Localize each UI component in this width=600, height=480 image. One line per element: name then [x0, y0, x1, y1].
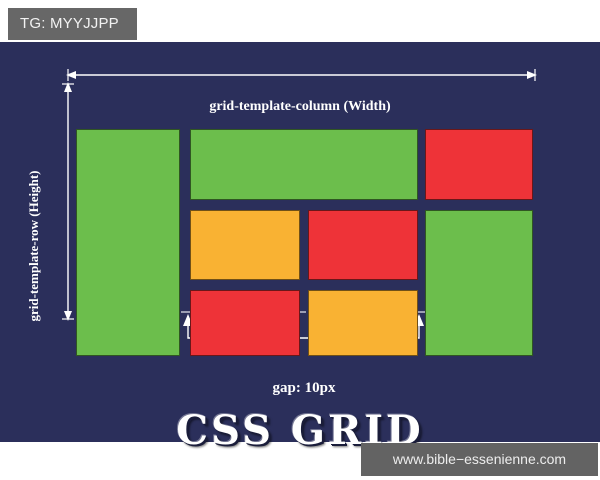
grid-cell-8: [308, 290, 418, 356]
site-watermark: www.bible−essenienne.com: [361, 443, 598, 476]
gap-label: gap: 10px: [188, 380, 420, 397]
grid-template-column-label: grid-template-column (Width): [0, 99, 600, 115]
grid-cell-2: [190, 129, 418, 200]
tg-handle-badge: TG: MYYJJPP: [8, 8, 137, 40]
slide-page: TG: MYYJJPP: [0, 0, 600, 480]
grid-cell-6: [425, 210, 533, 356]
slide-panel: grid-template-column (Width) grid-templa…: [0, 42, 600, 442]
css-grid-diagram: [76, 129, 533, 356]
grid-cell-4: [190, 210, 300, 280]
grid-cell-1: [76, 129, 180, 356]
grid-template-row-label: grid-template-row (Height): [26, 146, 42, 346]
grid-cell-3: [425, 129, 533, 200]
grid-cell-5: [308, 210, 418, 280]
grid-cell-7: [190, 290, 300, 356]
